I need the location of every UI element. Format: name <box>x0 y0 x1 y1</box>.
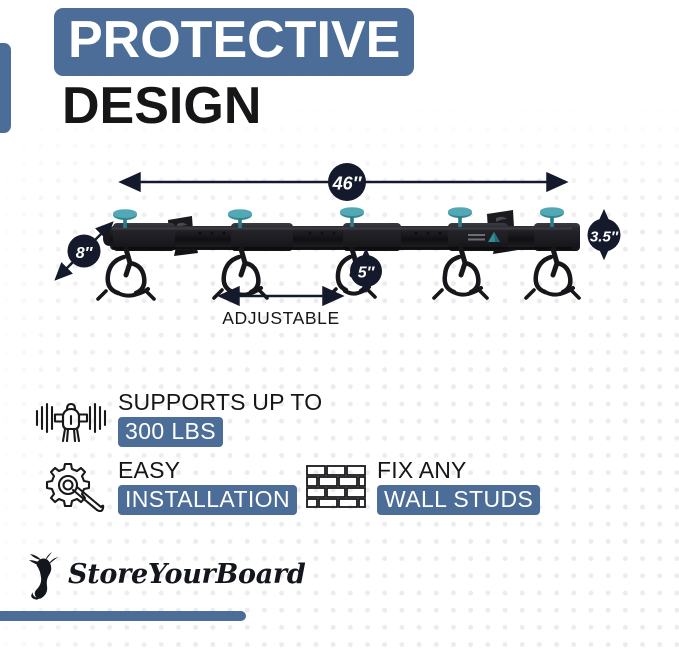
feature-installation: EASY INSTALLATION <box>34 458 297 515</box>
gear-wrench-icon <box>34 461 108 511</box>
svg-text:5″: 5″ <box>358 265 376 282</box>
headline-protective: PROTECTIVE <box>54 8 414 76</box>
feature-support: SUPPORTS UP TO 300 LBS <box>34 390 322 447</box>
svg-text:8″: 8″ <box>76 245 94 262</box>
brand-logo: StoreYourBoard <box>28 548 305 600</box>
dimension-arrow-height: 3.5″ <box>588 212 621 258</box>
adjustable-label: ADJUSTABLE <box>222 308 340 328</box>
svg-text:3.5″: 3.5″ <box>590 229 619 246</box>
headline-design: DESIGN <box>62 80 414 133</box>
bottom-accent-bar <box>0 611 246 621</box>
product-dimension-diagram: 46″ 8″ 3.5″ <box>0 150 679 350</box>
dumbbell-arm-icon <box>34 393 108 443</box>
rack-hook <box>98 249 579 299</box>
feature-installation-highlight: INSTALLATION <box>118 485 297 515</box>
ski-rack-illustration <box>98 207 580 299</box>
feature-studs-highlight: WALL STUDS <box>377 485 540 515</box>
feature-support-highlight: 300 LBS <box>118 417 223 447</box>
adjustable-dimension: ADJUSTABLE <box>221 296 342 328</box>
svg-text:46″: 46″ <box>332 174 363 194</box>
dimension-arrow-depth: 8″ <box>56 223 112 279</box>
brick-wall-icon <box>305 463 367 509</box>
feature-studs-top-text: FIX ANY <box>377 458 540 483</box>
page-title: PROTECTIVE DESIGN <box>54 8 414 133</box>
brand-wordmark: StoreYourBoard <box>68 559 305 590</box>
feature-wall-studs: FIX ANY WALL STUDS <box>305 458 540 515</box>
feature-installation-top-text: EASY <box>118 458 297 483</box>
octopus-wave-logo-icon <box>28 548 62 600</box>
dimension-arrow-width: 46″ <box>122 163 566 201</box>
left-edge-accent-tab <box>0 43 11 133</box>
feature-support-top-text: SUPPORTS UP TO <box>118 390 322 415</box>
